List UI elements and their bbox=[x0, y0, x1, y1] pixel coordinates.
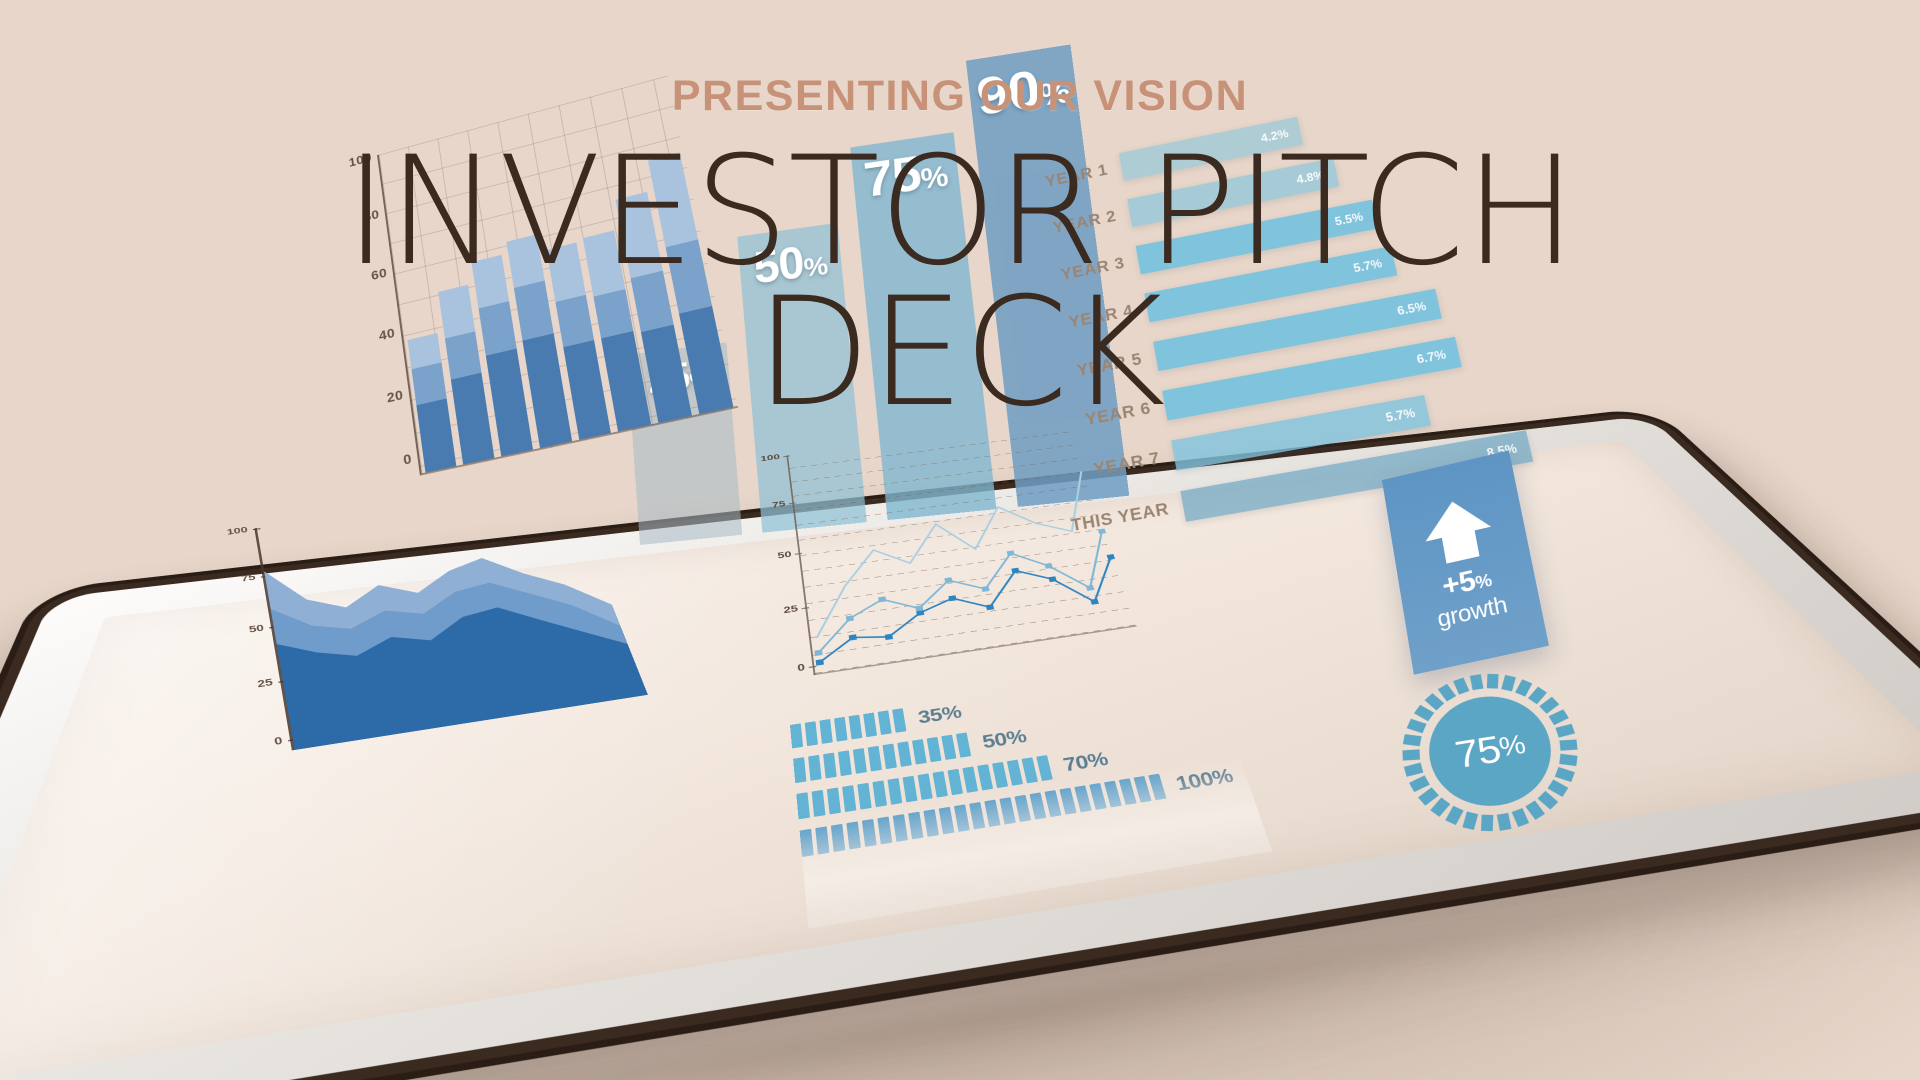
year-label: YEAR 7 bbox=[1039, 446, 1176, 490]
area-chart-ytick: 75 bbox=[222, 572, 256, 586]
growth-number: +5 bbox=[1440, 564, 1478, 602]
line-chart-ytick: 50 bbox=[761, 549, 792, 563]
title-line-2: DECK bbox=[0, 283, 1920, 424]
slide-kicker: PRESENTING OUR VISION bbox=[0, 72, 1920, 121]
waffle-row-label: 50% bbox=[980, 725, 1028, 753]
line-chart-ytick: 0 bbox=[772, 661, 806, 677]
waffle-row-label: 100% bbox=[1173, 764, 1236, 795]
area-chart-ytick: 50 bbox=[229, 622, 265, 637]
line-chart-ytick: 75 bbox=[756, 499, 786, 512]
page-title: INVESTOR PITCH DECK bbox=[0, 142, 1920, 424]
area-chart-ytick: 25 bbox=[237, 676, 274, 693]
waffle-row-label: 70% bbox=[1061, 747, 1110, 776]
donut-gauge-label: 75% bbox=[1383, 655, 1603, 853]
bar-chart-ytick: 0 bbox=[373, 451, 413, 475]
slide-canvas: 25% 50% 75% 90% 100 80 60 40 20 0 bbox=[0, 0, 1920, 1080]
up-arrow-icon bbox=[1418, 490, 1497, 571]
growth-unit: % bbox=[1474, 569, 1493, 592]
line-chart-ytick: 25 bbox=[766, 603, 798, 618]
donut-gauge: 75% bbox=[1383, 655, 1603, 853]
area-chart-ytick: 100 bbox=[215, 525, 248, 538]
waffle-row-label: 35% bbox=[916, 701, 963, 728]
area-chart-ytick: 0 bbox=[245, 734, 283, 752]
donut-unit: % bbox=[1497, 730, 1528, 764]
